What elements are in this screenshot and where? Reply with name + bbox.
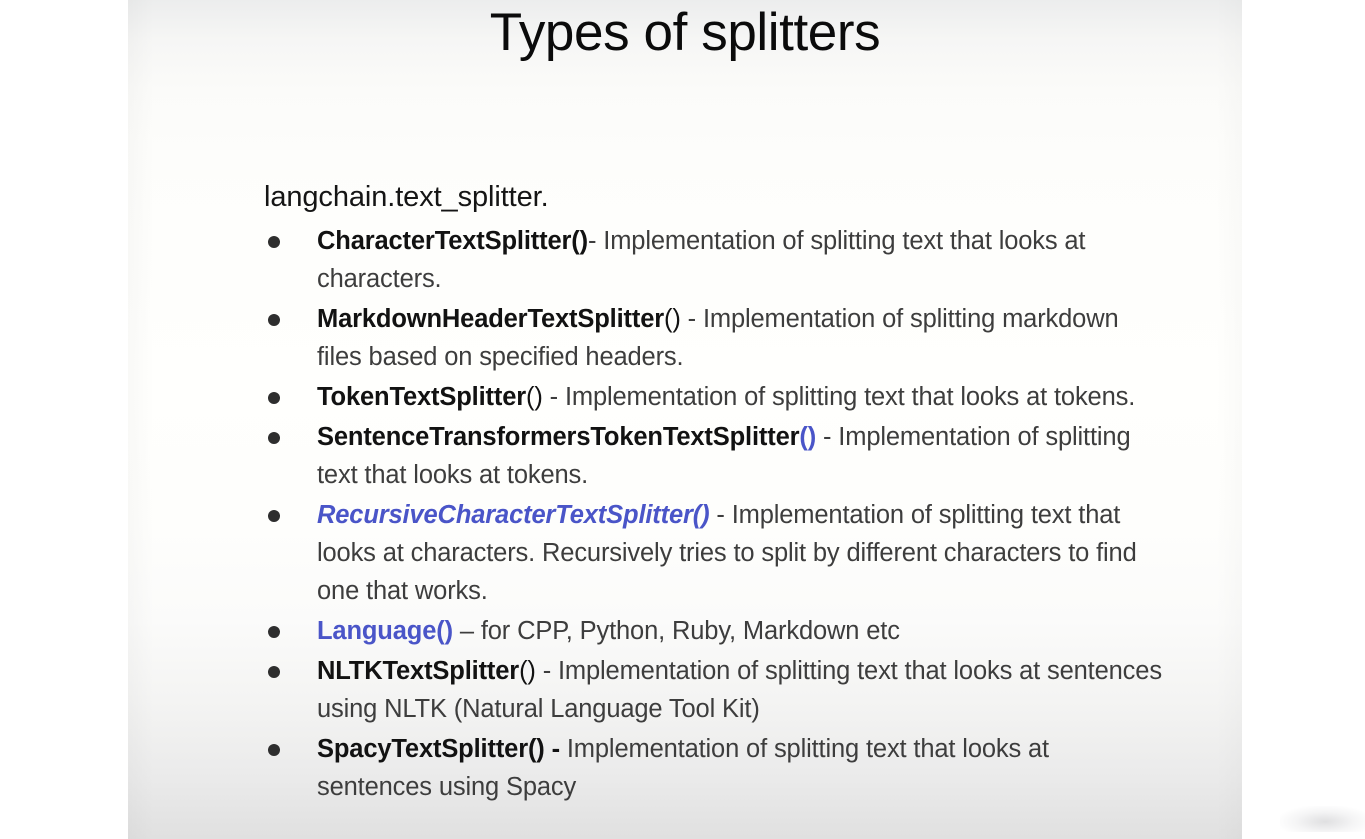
corner-artifact: [1280, 806, 1365, 832]
list-item: CharacterTextSplitter()- Implementation …: [264, 222, 1164, 298]
bullet-circle-icon: [268, 626, 280, 638]
slide-body: langchain.text_splitter. CharacterTextSp…: [264, 178, 1164, 808]
splitter-list: CharacterTextSplitter()- Implementation …: [264, 222, 1164, 806]
list-item: RecursiveCharacterTextSplitter() - Imple…: [264, 496, 1164, 610]
splitter-name-parens: (): [526, 383, 543, 411]
splitter-name-parens: (): [799, 423, 816, 451]
splitter-name: NLTKTextSplitter: [317, 657, 519, 685]
list-item: MarkdownHeaderTextSplitter() - Implement…: [264, 300, 1164, 376]
page-title: Types of splitters: [128, 2, 1242, 64]
list-item: SpacyTextSplitter() - Implementation of …: [264, 730, 1164, 806]
splitter-name: SentenceTransformersTokenTextSplitter: [317, 423, 799, 451]
splitter-name-parens: (): [519, 657, 536, 685]
list-item: TokenTextSplitter() - Implementation of …: [264, 378, 1164, 416]
splitter-name: SpacyTextSplitter() -: [317, 735, 560, 763]
list-item: SentenceTransformersTokenTextSplitter() …: [264, 418, 1164, 494]
bullet-circle-icon: [268, 666, 280, 678]
splitter-name: Language(): [317, 617, 453, 645]
bullet-circle-icon: [268, 236, 280, 248]
bullet-circle-icon: [268, 510, 280, 522]
list-item: Language() – for CPP, Python, Ruby, Mark…: [264, 612, 1164, 650]
splitter-name: CharacterTextSplitter(): [317, 227, 588, 255]
splitter-description: – for CPP, Python, Ruby, Markdown etc: [453, 617, 900, 645]
page-root: Types of splitters langchain.text_splitt…: [0, 0, 1365, 839]
slide-surface: Types of splitters langchain.text_splitt…: [128, 0, 1242, 839]
splitter-name: MarkdownHeaderTextSplitter: [317, 305, 664, 333]
splitter-name-parens: (): [664, 305, 681, 333]
splitter-name: TokenTextSplitter: [317, 383, 526, 411]
bullet-circle-icon: [268, 744, 280, 756]
module-path-label: langchain.text_splitter.: [264, 178, 1164, 216]
splitter-name: RecursiveCharacterTextSplitter(): [317, 501, 709, 529]
bullet-circle-icon: [268, 392, 280, 404]
bullet-circle-icon: [268, 314, 280, 326]
list-item: NLTKTextSplitter() - Implementation of s…: [264, 652, 1164, 728]
bullet-circle-icon: [268, 432, 280, 444]
splitter-description: - Implementation of splitting text that …: [543, 383, 1135, 411]
